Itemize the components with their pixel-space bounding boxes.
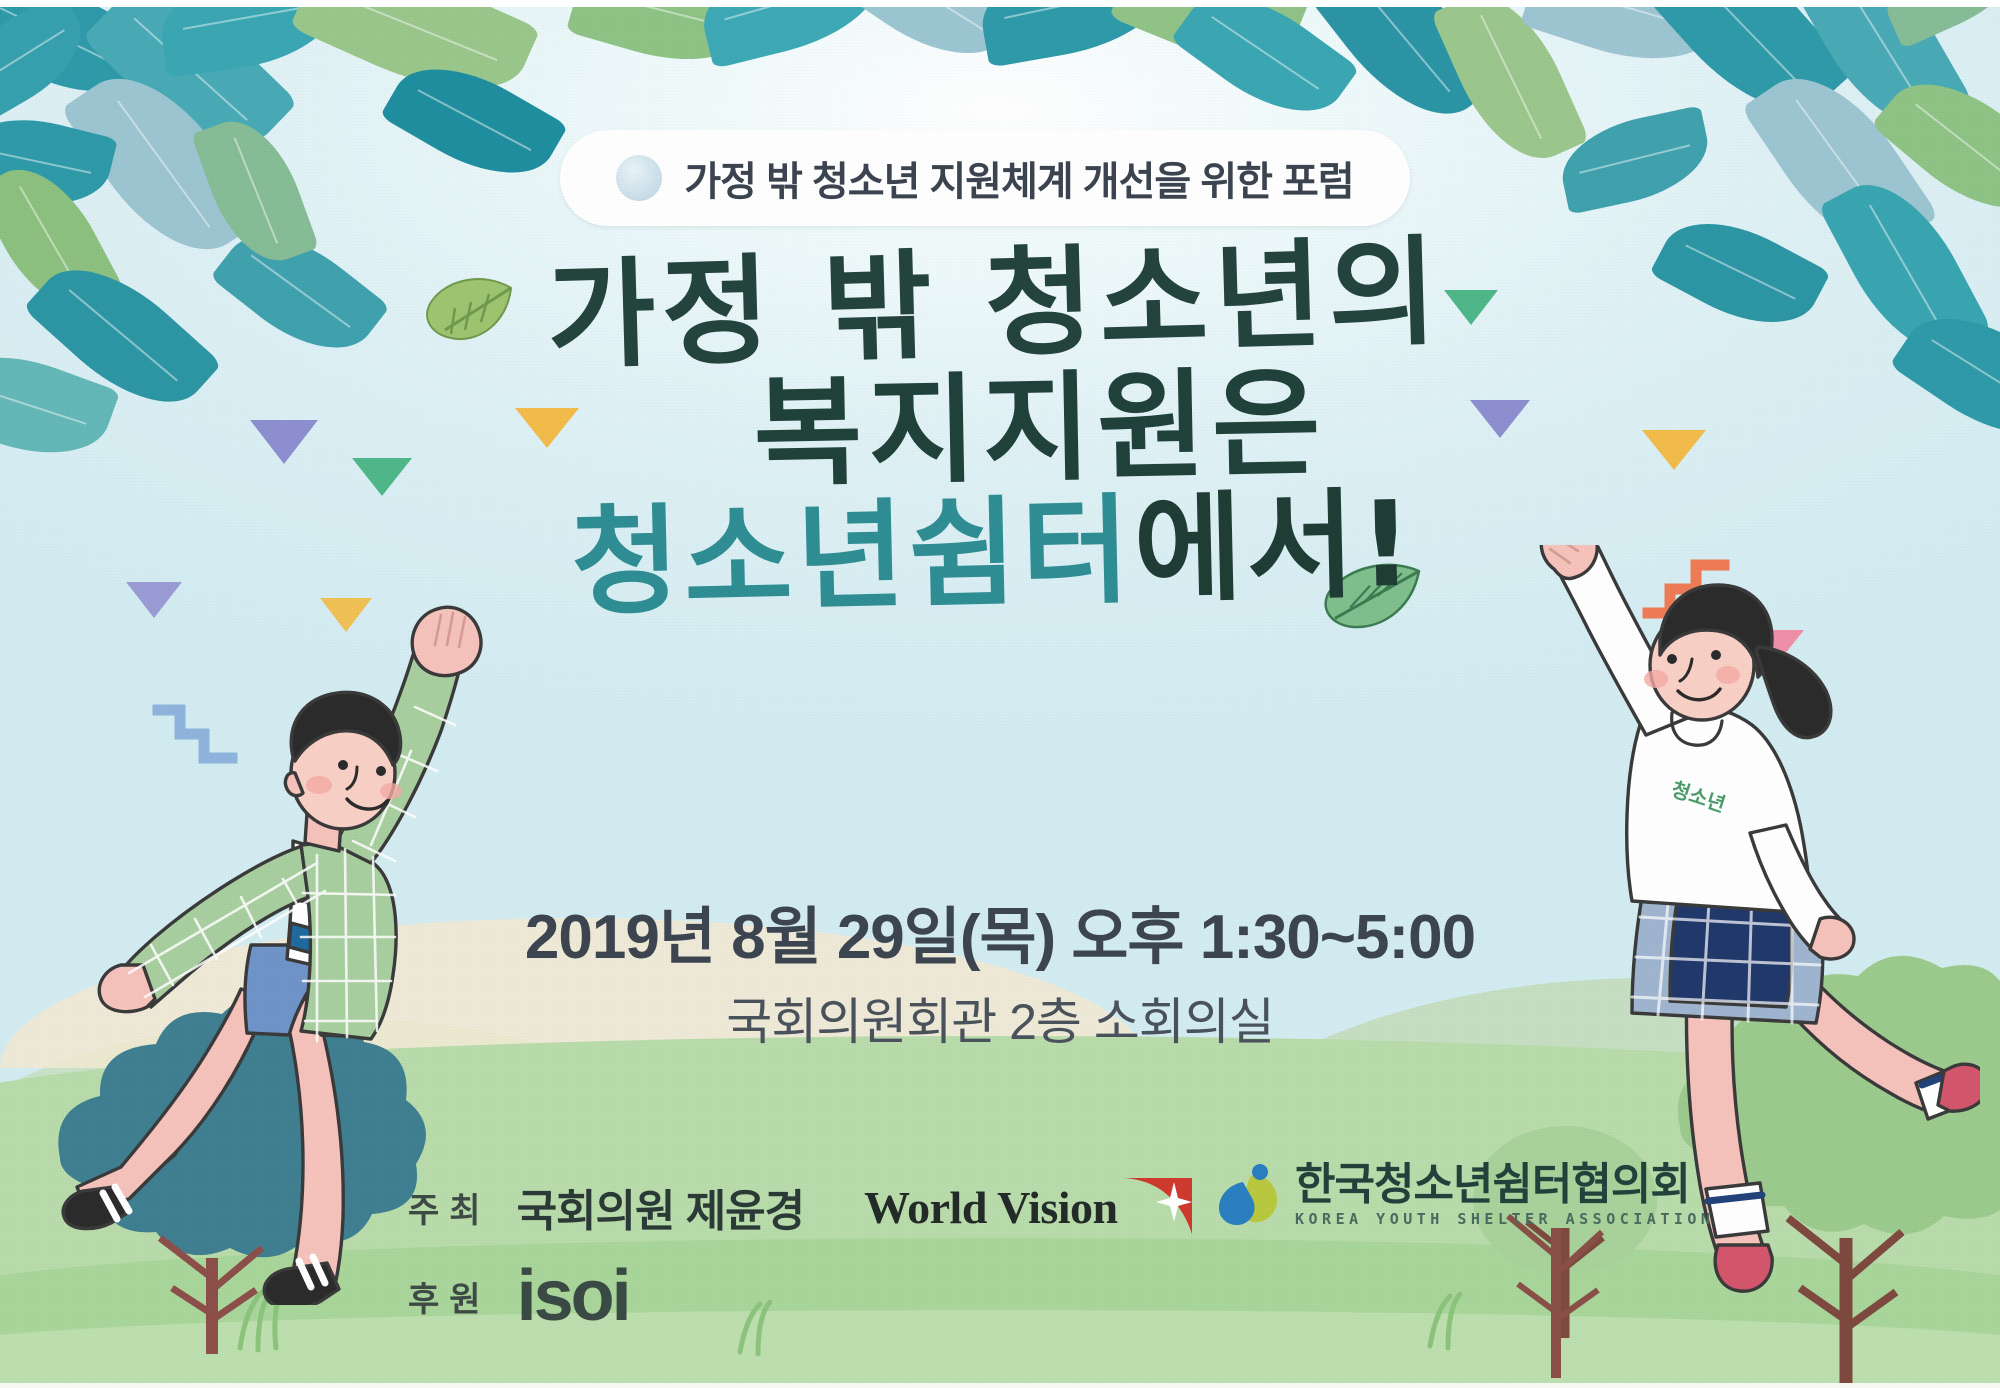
leaf-accent-icon [1306, 534, 1434, 653]
title-line-2: 복지지원은 [39, 349, 2000, 508]
event-venue: 국회의원회관 2층 소회의실 [0, 982, 2000, 1054]
triangle-purple-icon [250, 420, 318, 464]
isoi-logo: isoi [517, 1264, 629, 1329]
title-line-3-teal: 청소년쉼터 [570, 481, 1136, 632]
circle-dot-icon [616, 155, 662, 201]
triangle-green-icon [352, 458, 412, 496]
event-datetime: 2019년 8월 29일(목) 오후 1:30~5:00 [0, 886, 2000, 976]
credits-block: 주최 국회의원 제윤경 World Vision 후원 isoi [0, 1160, 2000, 1370]
host-name: 국회의원 제윤경 [517, 1175, 805, 1239]
host-label: 주최 [408, 1183, 491, 1232]
kysa-name-english: KOREA YOUTH SHELTER ASSOCIATION [1295, 1212, 1714, 1227]
triangle-yellow-icon [1642, 430, 1706, 470]
event-poster: 청소년 가정 밖 청소년 지원체계 개선을 위한 포럼 가정 밖 청소년의 복지… [0, 0, 2000, 1388]
triangle-purple-icon [1470, 400, 1530, 438]
sponsor-row: 후원 isoi [408, 1264, 629, 1329]
kysa-droplet-icon [1215, 1162, 1281, 1228]
world-vision-star-icon [1122, 1172, 1198, 1242]
forum-banner: 가정 밖 청소년 지원체계 개선을 위한 포럼 [560, 130, 1410, 226]
triangle-yellow-icon [515, 408, 579, 448]
leaf [691, 0, 893, 69]
kysa-name-korean: 한국청소년쉼터협의회 [1295, 1163, 1714, 1207]
forum-banner-text: 가정 밖 청소년 지원체계 개선을 위한 포럼 [684, 149, 1353, 207]
scan-edge-bottom [0, 1383, 2000, 1388]
triangle-green-icon [1444, 290, 1498, 325]
host-row: 주최 국회의원 제윤경 World Vision [408, 1172, 1198, 1242]
sponsor-label: 후원 [408, 1272, 491, 1321]
leaf [1649, 197, 1831, 348]
kysa-logo: 한국청소년쉼터협의회 KOREA YOUTH SHELTER ASSOCIATI… [1215, 1162, 1714, 1228]
world-vision-text: World Vision [864, 1181, 1117, 1234]
leaf-sprig-icon [415, 268, 525, 360]
world-vision-logo: World Vision [864, 1172, 1197, 1242]
scan-edge-top [0, 0, 2000, 7]
kysa-text-block: 한국청소년쉼터협의회 KOREA YOUTH SHELTER ASSOCIATI… [1295, 1163, 1714, 1227]
